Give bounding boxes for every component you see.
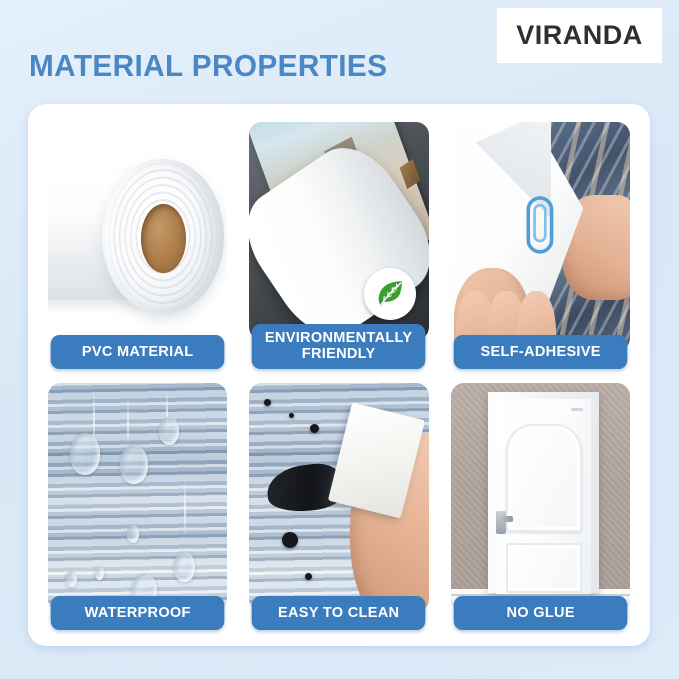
feature-panel: PVC MATERIAL	[28, 104, 650, 646]
feature-card-pvc-material[interactable]: PVC MATERIAL	[40, 118, 235, 373]
door-panel-top	[506, 424, 581, 532]
water-droplet-7	[95, 566, 104, 580]
feature-label-easy-to-clean: EASY TO CLEAN	[252, 596, 426, 630]
no-glue-image	[451, 383, 630, 612]
easy-to-clean-image	[249, 383, 428, 612]
water-droplet-3	[159, 417, 179, 444]
feature-label-self-adhesive: SELF-ADHESIVE	[453, 335, 627, 369]
pvc-cardboard-core	[141, 204, 186, 273]
stain-dot-5	[305, 573, 312, 580]
door-handle-lever	[501, 516, 514, 522]
feature-card-no-glue[interactable]: NO GLUE	[443, 379, 638, 634]
door-panel-bottom	[506, 543, 581, 593]
feature-label-line-1: ENVIRONMENTALLY	[265, 329, 412, 346]
water-droplet-1	[70, 433, 100, 474]
water-droplet-2	[120, 445, 149, 484]
paperclip-icon	[522, 186, 558, 264]
self-adhesive-image	[451, 122, 630, 351]
feature-label-line-2: FRIENDLY	[302, 345, 376, 362]
feature-grid: PVC MATERIAL	[40, 118, 638, 634]
feature-label-waterproof: WATERPROOF	[51, 596, 225, 630]
feature-label-pvc-material: PVC MATERIAL	[51, 335, 225, 369]
water-droplet-6	[66, 571, 77, 587]
page-title: MATERIAL PROPERTIES	[29, 48, 387, 84]
leaf-icon	[364, 268, 416, 320]
stain-dot-1	[264, 399, 271, 406]
water-trail-1	[93, 388, 95, 443]
feature-card-self-adhesive[interactable]: SELF-ADHESIVE	[443, 118, 638, 373]
water-droplet-5	[174, 552, 196, 582]
door-handle	[496, 511, 506, 534]
feature-card-waterproof[interactable]: WATERPROOF	[40, 379, 235, 634]
waterproof-image	[48, 383, 227, 612]
door-top-mark	[571, 408, 584, 411]
water-trail-4	[184, 475, 186, 534]
feature-label-environmentally-friendly: ENVIRONMENTALLY FRIENDLY	[252, 324, 426, 369]
feature-card-environmentally-friendly[interactable]: ENVIRONMENTALLY FRIENDLY	[241, 118, 436, 373]
feature-card-easy-to-clean[interactable]: EASY TO CLEAN	[241, 379, 436, 634]
eco-wallpaper-image	[249, 122, 428, 340]
feature-label-no-glue: NO GLUE	[453, 596, 627, 630]
stain-dot-4	[282, 532, 298, 548]
water-trail-2	[127, 397, 129, 443]
pvc-roll-image	[48, 122, 227, 351]
brand-logo-text: VIRANDA	[516, 20, 643, 51]
brand-logo-box: VIRANDA	[497, 8, 662, 63]
